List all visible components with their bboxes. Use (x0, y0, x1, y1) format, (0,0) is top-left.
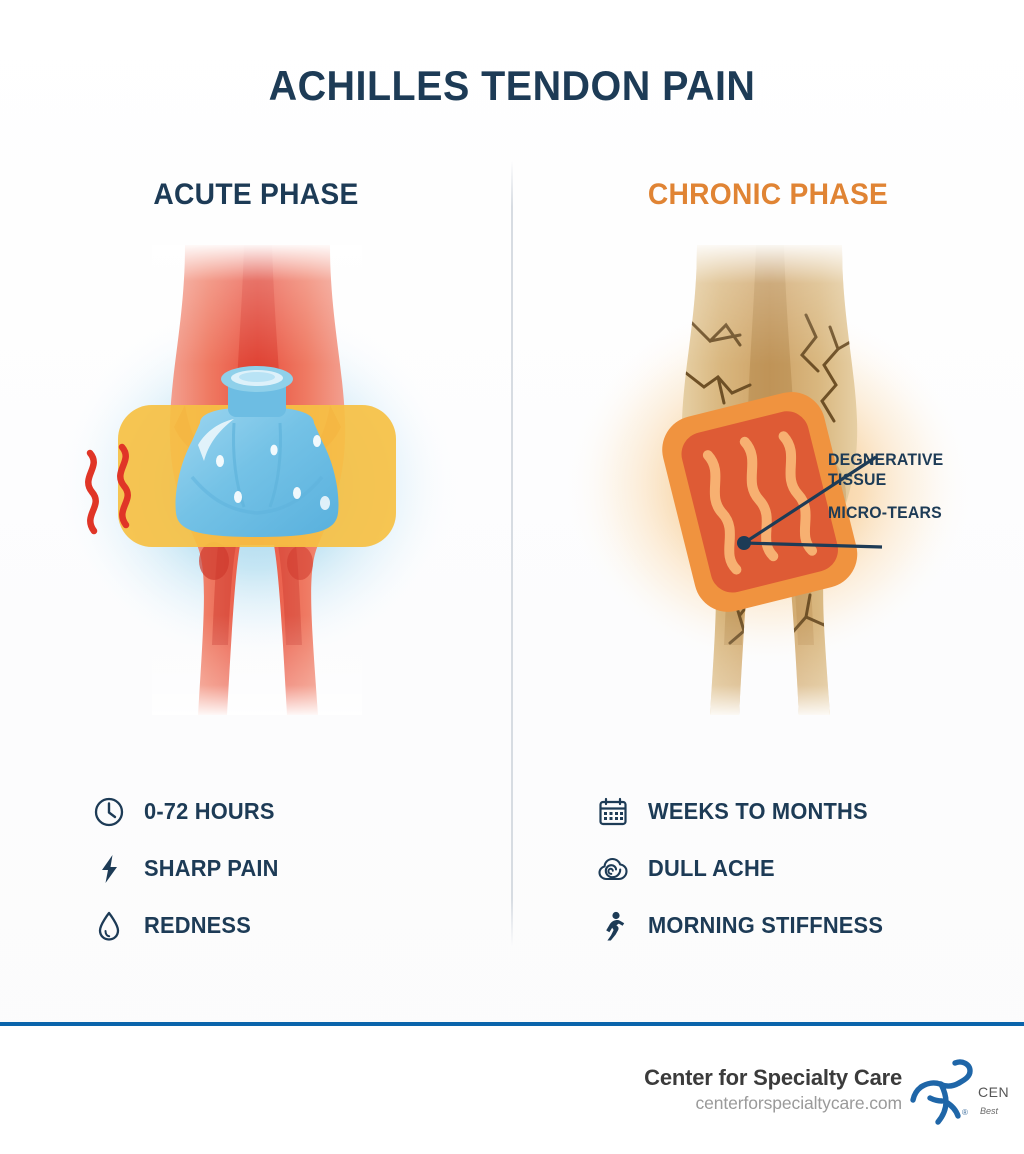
footer-logo: ® CEN Best (906, 1056, 1024, 1142)
infographic-page: ACHILLES TENDON PAIN ACUTE PHASE CHRONIC… (0, 0, 1024, 1154)
symptom-label-pain-acute: SHARP PAIN (144, 855, 279, 882)
symptom-row-pain-acute: SHARP PAIN (92, 840, 286, 897)
page-title: ACHILLES TENDON PAIN (31, 62, 994, 110)
clock-icon (92, 795, 126, 829)
symptom-row-duration-acute: 0-72 HOURS (92, 783, 286, 840)
footer-website-url[interactable]: centerforspecialtycare.com (644, 1092, 902, 1115)
lightning-icon (92, 852, 126, 886)
symptom-row-stiffness-chronic: MORNING STIFFNESS (596, 897, 895, 954)
symptom-label-duration-chronic: WEEKS TO MONTHS (648, 798, 868, 825)
logo-registered-mark: ® (962, 1108, 968, 1117)
footer-text-block: Center for Specialty Care centerforspeci… (644, 1064, 902, 1115)
footer: Center for Specialty Care centerforspeci… (0, 1026, 1024, 1154)
symptom-row-redness-acute: REDNESS (92, 897, 286, 954)
column-heading-chronic: CHRONIC PHASE (527, 178, 1008, 212)
callout-micro-tears-line1: MICRO-TEARS (828, 503, 1001, 523)
symptom-label-duration-acute: 0-72 HOURS (144, 798, 275, 825)
symptom-label-ache-chronic: DULL ACHE (648, 855, 775, 882)
logo-wordmark: CEN (978, 1084, 1009, 1100)
column-divider (511, 160, 513, 946)
symptom-label-redness-acute: REDNESS (144, 912, 251, 939)
running-figure-logo-icon (908, 1056, 980, 1136)
callout-degenerative-line1: DEGNERATIVE (828, 450, 1001, 470)
symptom-list-acute: 0-72 HOURS SHARP PAIN REDNESS (92, 783, 286, 954)
droplet-icon (92, 909, 126, 943)
symptom-label-stiffness-chronic: MORNING STIFFNESS (648, 912, 883, 939)
callout-anchor-dot (737, 536, 751, 550)
logo-subtext: Best (980, 1106, 998, 1116)
footer-brand-name: Center for Specialty Care (644, 1064, 902, 1092)
column-heading-acute: ACUTE PHASE (15, 178, 496, 212)
calendar-icon (596, 795, 630, 829)
callout-degenerative-tissue: DEGNERATIVE TISSUE (828, 450, 1001, 491)
symptom-list-chronic: WEEKS TO MONTHS DULL ACHE MORNING STIFFN… (596, 783, 895, 954)
symptom-row-ache-chronic: DULL ACHE (596, 840, 895, 897)
callout-degenerative-line2: TISSUE (828, 470, 1001, 490)
illustration-acute-tendon (22, 245, 492, 715)
walking-person-icon (596, 909, 630, 943)
callout-micro-tears: MICRO-TEARS (828, 503, 1001, 523)
cloud-swirl-icon (596, 852, 630, 886)
symptom-row-duration-chronic: WEEKS TO MONTHS (596, 783, 895, 840)
